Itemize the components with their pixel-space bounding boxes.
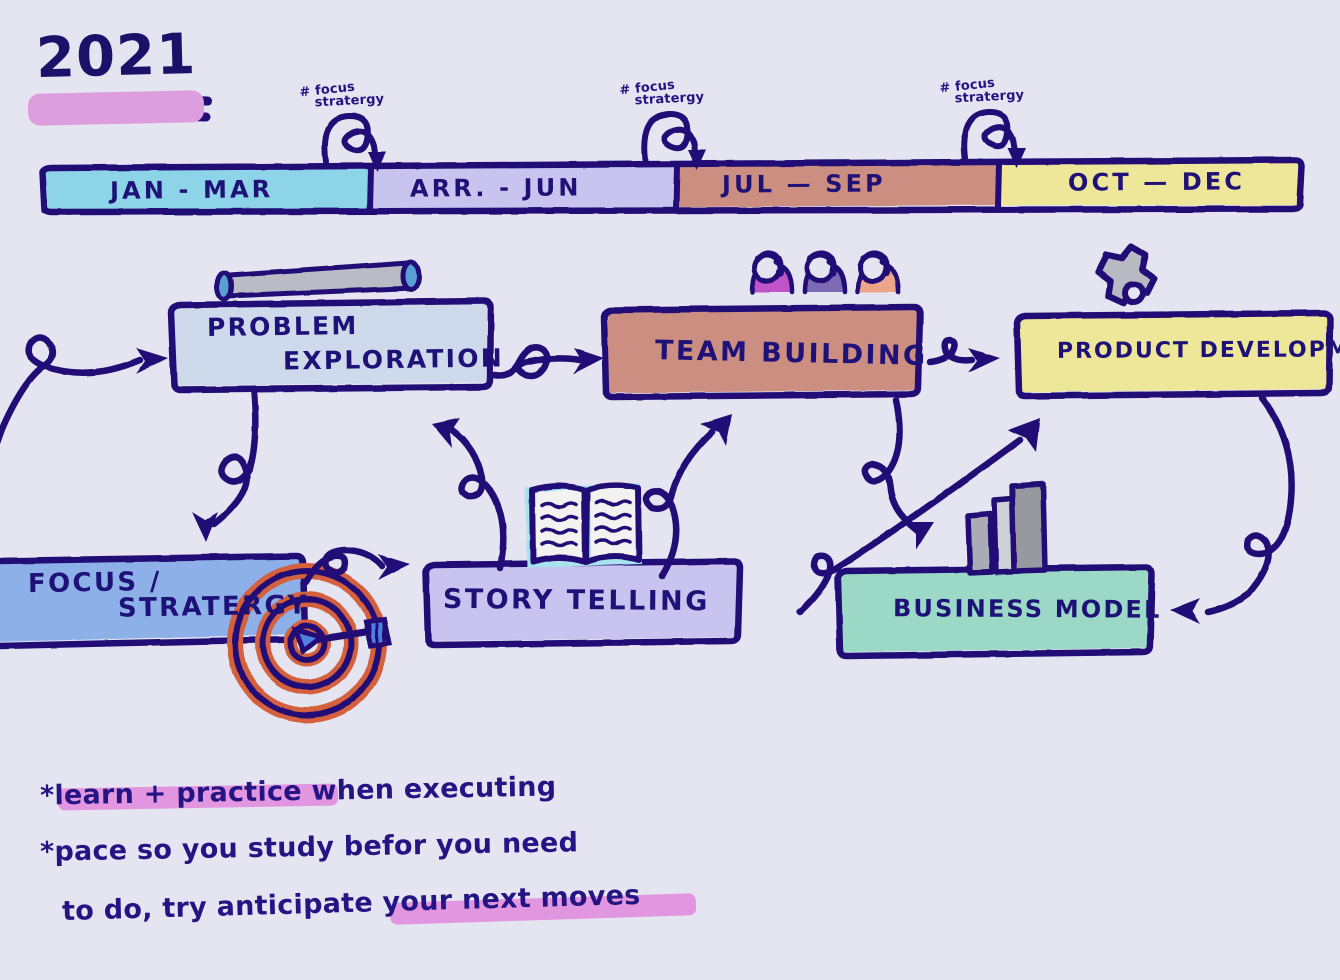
node-label-focus-strategy-line2: STRATERGY — [118, 590, 309, 623]
whiteboard-canvas: 2021 — [0, 0, 1340, 980]
node-label-team-building: TEAM BUILDING — [655, 335, 928, 372]
timeline-label-oct-dec: OCT — DEC — [1068, 167, 1245, 196]
node-label-story-telling: STORY TELLING — [443, 584, 710, 617]
year-underline-highlight — [28, 90, 205, 126]
arrow-product-to-business — [1170, 398, 1292, 624]
timeline-note-1: # focus stratergy — [299, 78, 385, 113]
telescope-icon — [217, 262, 419, 299]
timeline-label-jan-mar: JAN - MAR — [110, 175, 274, 205]
arrow-story-to-team — [646, 414, 732, 576]
page-title: 2021 — [35, 22, 197, 91]
arrow-team-to-product — [930, 340, 1000, 373]
node-label-problem-exploration-line2: EXPLORATION — [283, 343, 504, 375]
arrow-problem-to-focus — [192, 392, 255, 542]
arrow-focus-to-problem — [0, 338, 168, 561]
timeline-note-2: # focus stratergy — [619, 76, 705, 111]
node-label-product-development: PRODUCT DEVELOPMENT — [1057, 337, 1340, 364]
note-line-1: *learn + practice when executing — [40, 771, 557, 811]
timeline-label-apr-jun: ARR. - JUN — [410, 173, 582, 202]
node-label-business-model: BUSINESS MODEL — [893, 594, 1162, 623]
open-book-icon — [525, 483, 642, 568]
arrow-problem-to-team — [494, 347, 604, 376]
note-line-3: to do, try anticipate your next moves — [62, 880, 641, 927]
gear-icon — [1098, 247, 1154, 303]
bar-chart-icon — [968, 484, 1045, 573]
timeline-label-jul-sep: JUL — SEP — [722, 169, 886, 198]
note-line-2: *pace so you study befor you need — [40, 827, 579, 867]
arrow-story-to-problem — [432, 418, 503, 568]
node-label-problem-exploration-line1: PROBLEM — [207, 311, 359, 342]
timeline-note-3: # focus stratergy — [939, 74, 1025, 109]
three-people-icon — [752, 253, 898, 292]
